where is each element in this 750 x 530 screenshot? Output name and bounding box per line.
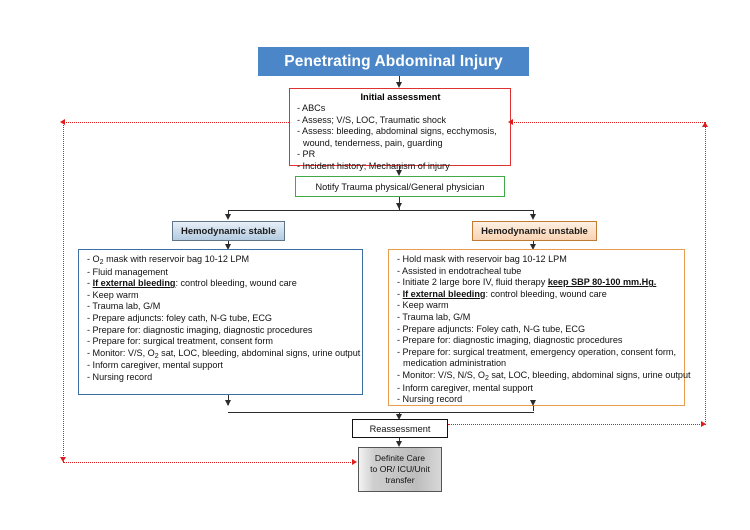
initial-assessment-item: - Assess; V/S, LOC, Traumatic shock [297, 115, 504, 127]
flowchart-canvas: Penetrating Abdominal Injury Initial ass… [0, 0, 750, 530]
unstable-care-underlined: If external bleeding [403, 289, 486, 299]
stable-care-item: - Trauma lab, G/M [87, 301, 356, 313]
unstable-care-item: - Prepare adjuncts: Foley cath, N-G tube… [397, 324, 678, 336]
connector-unstable-down [533, 406, 534, 411]
feedback-left-rail [63, 122, 64, 462]
feedback-right-top-segment [511, 122, 705, 123]
initial-assessment-item: - ABCs [297, 103, 504, 115]
arrowhead-split-right [530, 214, 536, 220]
stable-care-item: - Keep warm [87, 290, 356, 302]
unstable-care-item: - Assisted in endotracheal tube [397, 266, 678, 278]
unstable-care-item: - Inform caregiver, mental support [397, 383, 678, 395]
feedback-left-bottom-segment [63, 462, 355, 463]
stable-care-item: - Prepare adjuncts: foley cath, N-G tube… [87, 313, 356, 325]
feedback-left-top-segment [63, 122, 289, 123]
feedback-to-definite-arrowhead [352, 459, 357, 465]
unstable-care-item: - Hold mask with reservoir bag 10-12 LPM [397, 254, 678, 266]
feedback-right-rail [705, 122, 706, 422]
unstable-care-underlined-sbp: keep SBP 80-100 mm.Hg. [548, 277, 657, 287]
unstable-care-item: - Trauma lab, G/M [397, 312, 678, 324]
split-bar-branches [228, 210, 533, 211]
stable-care-item: - Nursing record [87, 372, 356, 384]
unstable-care-item: medication administration [397, 358, 678, 370]
unstable-care-item: - Keep warm [397, 300, 678, 312]
page-title: Penetrating Abdominal Injury [258, 47, 529, 76]
arrowhead-stable-down [225, 400, 231, 406]
arrowhead-notify-down [396, 203, 402, 209]
merge-bar-branches [228, 412, 534, 413]
unstable-care-item: - Monitor: V/S, N/S, O2 sat, LOC, bleedi… [397, 370, 678, 383]
unstable-care-item: - Nursing record [397, 394, 678, 406]
stable-care-item: - Prepare for: diagnostic imaging, diagn… [87, 325, 356, 337]
unstable-care-box: - Hold mask with reservoir bag 10-12 LPM… [388, 249, 685, 406]
stable-care-item: - Monitor: V/S, O2 sat, LOC, bleeding, a… [87, 348, 356, 361]
stable-care-box: - O2 mask with reservoir bag 10-12 LPM -… [78, 249, 363, 395]
branch-hemodynamic-unstable[interactable]: Hemodynamic unstable [472, 221, 597, 241]
notify-physician-label: Notify Trauma physical/General physician [315, 182, 484, 192]
reassessment-label: Reassessment [370, 424, 431, 434]
initial-assessment-item: wound, tenderness, pain, guarding [297, 138, 504, 150]
definite-care-line-2: to OR/ ICU/Unit [370, 464, 430, 475]
initial-assessment-item: - Assess: bleeding, abdominal signs, ecc… [297, 126, 504, 138]
definite-care-line-1: Definite Care [375, 453, 425, 464]
unstable-care-item: - Prepare for: diagnostic imaging, diagn… [397, 335, 678, 347]
reassessment-box: Reassessment [352, 419, 448, 438]
definite-care-box: Definite Care to OR/ ICU/Unit transfer [358, 447, 442, 492]
feedback-right-bottom-arrowhead [701, 421, 706, 427]
stable-care-item: - Inform caregiver, mental support [87, 360, 356, 372]
stable-care-item: - Prepare for: surgical treatment, conse… [87, 336, 356, 348]
feedback-right-top-arrowhead [508, 119, 513, 125]
unstable-care-item: - Prepare for: surgical treatment, emerg… [397, 347, 678, 359]
stable-care-item: - O2 mask with reservoir bag 10-12 LPM [87, 254, 356, 267]
arrowhead-split-left [225, 214, 231, 220]
feedback-right-bottom-segment [448, 424, 706, 425]
unstable-care-item: - Initiate 2 large bore IV, fluid therap… [397, 277, 678, 289]
stable-care-item: - If external bleeding: control bleeding… [87, 278, 356, 290]
initial-assessment-heading: Initial assessment [297, 92, 504, 102]
initial-assessment-item: - PR [297, 149, 504, 161]
initial-assessment-box: Initial assessment - ABCs - Assess; V/S,… [289, 88, 511, 166]
feedback-right-rail-up-arrowhead [702, 122, 708, 127]
definite-care-line-3: transfer [385, 475, 414, 486]
notify-physician-box: Notify Trauma physical/General physician [295, 176, 505, 197]
stable-care-underlined: If external bleeding [93, 278, 176, 288]
branch-hemodynamic-stable[interactable]: Hemodynamic stable [172, 221, 285, 241]
stable-care-item: - Fluid management [87, 267, 356, 279]
unstable-care-item: - If external bleeding: control bleeding… [397, 289, 678, 301]
arrowhead-unstable-down [530, 400, 536, 406]
